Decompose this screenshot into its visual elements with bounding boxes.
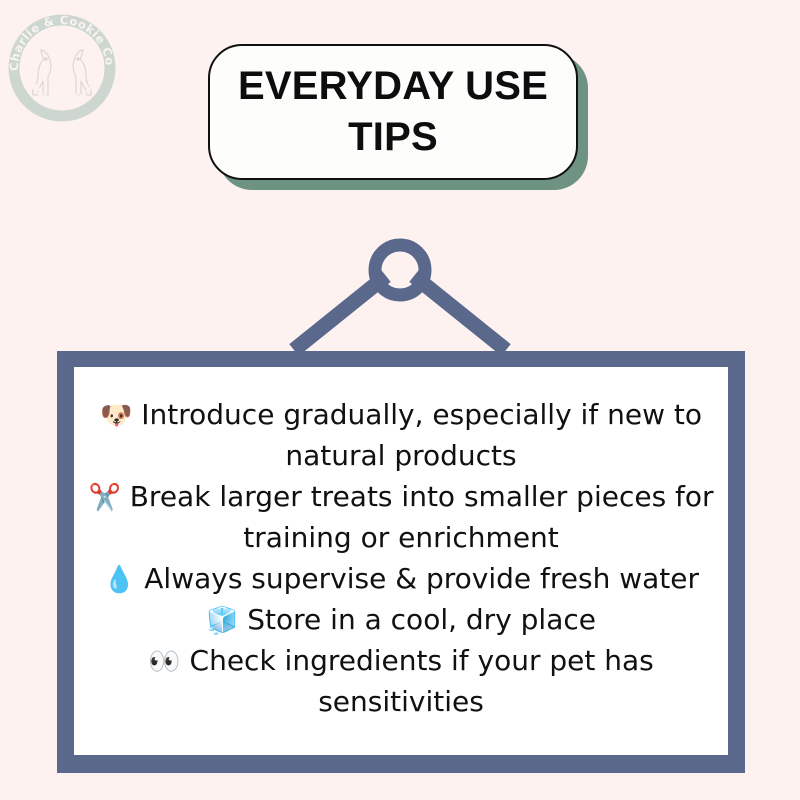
tip-text: Check ingredients if your pet has sensit… xyxy=(181,644,654,718)
water-droplet-icon: 💧 xyxy=(103,565,135,595)
tip-text: Store in a cool, dry place xyxy=(238,603,596,636)
tips-board-inner: 🐶 Introduce gradually, especially if new… xyxy=(74,367,728,755)
banner-title-line-2: TIPS xyxy=(348,112,438,163)
tips-list: 🐶 Introduce gradually, especially if new… xyxy=(86,395,716,722)
logo-top-text: Charlie & Cookie Co. xyxy=(6,12,117,71)
scissors-icon: ✂️ xyxy=(88,483,120,513)
tip-text: Break larger treats into smaller pieces … xyxy=(121,480,714,554)
tip-item: 🐶 Introduce gradually, especially if new… xyxy=(86,395,716,477)
tip-item: 👀 Check ingredients if your pet has sens… xyxy=(86,641,716,723)
svg-text:Dog Supplies: Dog Supplies xyxy=(29,83,95,107)
tip-item: 💧 Always supervise & provide fresh water xyxy=(86,559,716,600)
right-support-strut xyxy=(414,276,506,350)
left-support-strut xyxy=(294,276,386,350)
everyday-use-tips-banner: EVERYDAY USE TIPS xyxy=(208,44,578,180)
logo-bottom-text: Dog Supplies xyxy=(29,83,95,107)
title-banner-group: EVERYDAY USE TIPS xyxy=(208,44,592,190)
eyes-icon: 👀 xyxy=(148,647,180,677)
banner-title-line-1: EVERYDAY USE xyxy=(238,61,548,112)
svg-text:Charlie & Cookie Co.: Charlie & Cookie Co. xyxy=(6,12,117,71)
tip-text: Always supervise & provide fresh water xyxy=(135,562,699,595)
hanging-ring-icon xyxy=(375,245,425,295)
tip-item: 🧊 Store in a cool, dry place xyxy=(86,600,716,641)
ice-cube-icon: 🧊 xyxy=(206,606,238,636)
brand-logo-watermark: Charlie & Cookie Co. Dog Supplies xyxy=(6,12,118,124)
tip-text: Introduce gradually, especially if new t… xyxy=(132,398,702,472)
tip-item: ✂️ Break larger treats into smaller piec… xyxy=(86,477,716,559)
tips-board: 🐶 Introduce gradually, especially if new… xyxy=(57,351,745,773)
sign-hanger xyxy=(280,232,520,358)
dog-face-icon: 🐶 xyxy=(100,401,132,431)
